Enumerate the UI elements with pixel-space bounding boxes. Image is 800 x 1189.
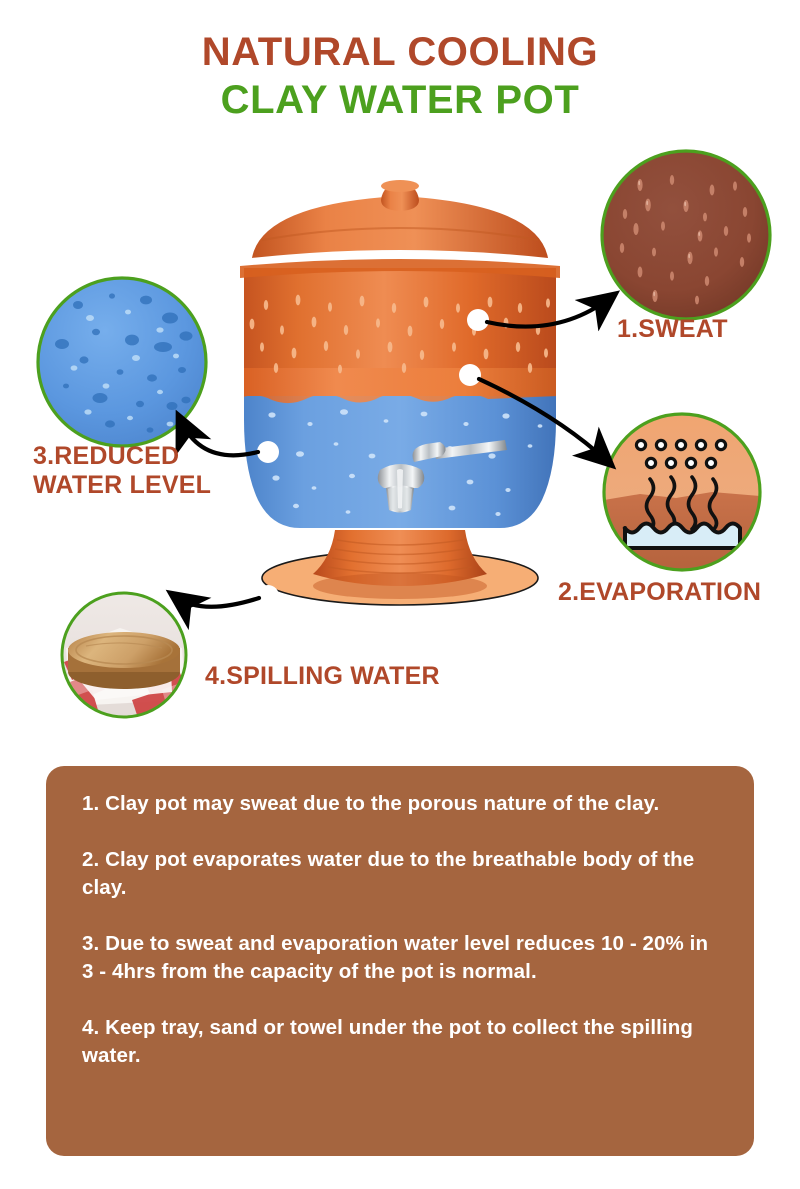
notes-panel: 1. Clay pot may sweat due to the porous … (46, 766, 754, 1156)
connector-dot-spilling-water (257, 585, 279, 607)
note-item: 4. Keep tray, sand or towel under the po… (82, 1014, 718, 1070)
note-item: 1. Clay pot may sweat due to the porous … (82, 790, 718, 818)
connector-dot-reduced-water-level (257, 441, 279, 463)
diagram-canvas (0, 0, 800, 760)
callout-label-evaporation: 2.EVAPORATION (558, 578, 761, 607)
callout-label-sweat: 1.SWEAT (617, 315, 728, 344)
callout-circle-sweat (600, 149, 772, 321)
callout-label-reduced-water-level: 3.REDUCED WATER LEVEL (33, 442, 211, 500)
connector-dot-sweat (467, 309, 489, 331)
pedestal-base (313, 530, 487, 599)
connector-dot-evaporation (459, 364, 481, 386)
callout-circle-spilling-water (62, 593, 188, 718)
pot-lid (252, 180, 548, 258)
pot-diagram: 1.SWEAT 2.EVAPORATION 3.REDUCED WATER LE… (0, 0, 800, 760)
note-item: 3. Due to sweat and evaporation water le… (82, 930, 718, 986)
callout-label-spilling-water: 4.SPILLING WATER (205, 662, 440, 691)
callout-circle-evaporation (604, 414, 760, 570)
arrow-to-spilling-water (176, 597, 259, 607)
note-item: 2. Clay pot evaporates water due to the … (82, 846, 718, 902)
